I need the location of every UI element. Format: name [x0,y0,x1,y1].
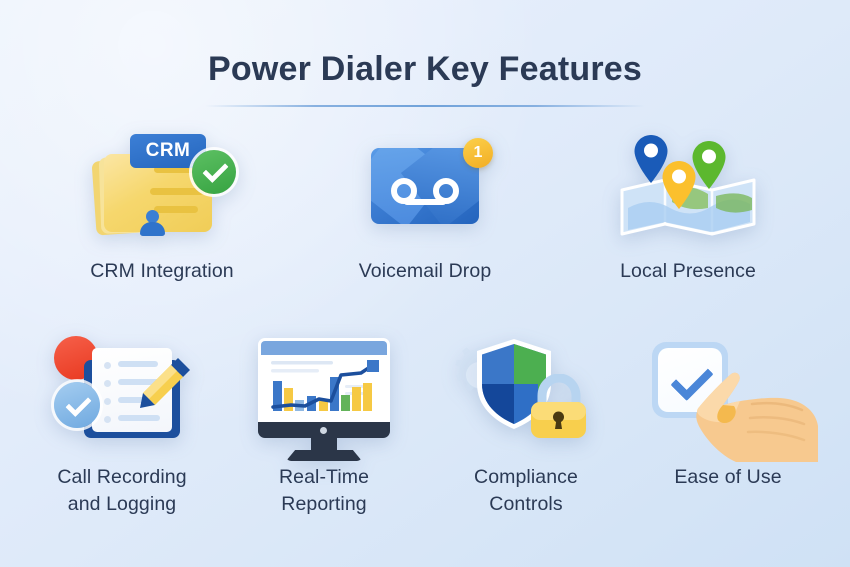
crm-card-icon: CRM [82,126,242,246]
feature-real-time-reporting[interactable]: Real-Time Reporting [224,330,424,518]
feature-label: Voicemail Drop [359,258,492,285]
feature-compliance-controls[interactable]: Compliance Controls [426,330,626,518]
voicemail-glyph-icon [391,178,459,206]
feature-label-line2: Controls [489,493,562,515]
envelope-body [371,148,479,224]
infographic-canvas: Power Dialer Key Features CRM CRM Integr… [0,0,850,567]
feature-label-line2: Reporting [281,493,366,515]
map-pins-icon [608,126,768,246]
monitor-screen [258,338,390,428]
map-pin-yellow [660,160,698,210]
feature-label-line2: and Logging [68,493,176,515]
feature-label-line1: Call Recording [57,466,186,488]
feature-label: CRM Integration [90,258,233,285]
blue-check-icon [54,382,100,428]
feature-local-presence[interactable]: Local Presence [588,126,788,285]
feature-ease-of-use[interactable]: Ease of Use [628,330,828,518]
monitor-chart-icon [244,330,404,450]
feature-crm-integration[interactable]: CRM CRM Integration [62,126,262,285]
feature-row-bottom: Call Recording and Logging [22,330,828,518]
shield-lock-gear-icon [446,330,606,450]
clipboard-pencil-record-icon [42,330,202,450]
green-check-icon [192,150,236,194]
pointing-hand-icon [692,350,822,462]
feature-label-line1: Compliance [474,466,578,488]
hand-checkbox-icon [648,330,808,450]
title-divider [205,105,645,107]
padlock-icon [524,374,590,440]
pencil-icon [138,356,192,410]
monitor-power-dot [320,427,327,434]
feature-row-top: CRM CRM Integration 1 Voicemail Drop [62,126,788,285]
monitor-title-bar [261,341,387,355]
monitor-stand [286,450,362,461]
feature-call-recording[interactable]: Call Recording and Logging [22,330,222,518]
envelope-voicemail-icon: 1 [345,126,505,246]
page-title: Power Dialer Key Features [0,50,850,89]
feature-label-line1: Real-Time [279,466,369,488]
feature-label: Local Presence [620,258,756,285]
crm-line-2 [150,188,204,195]
feature-label-line1: Ease of Use [674,466,781,488]
notification-badge: 1 [463,138,493,168]
crm-avatar-icon [140,210,164,234]
feature-voicemail-drop[interactable]: 1 Voicemail Drop [325,126,525,285]
